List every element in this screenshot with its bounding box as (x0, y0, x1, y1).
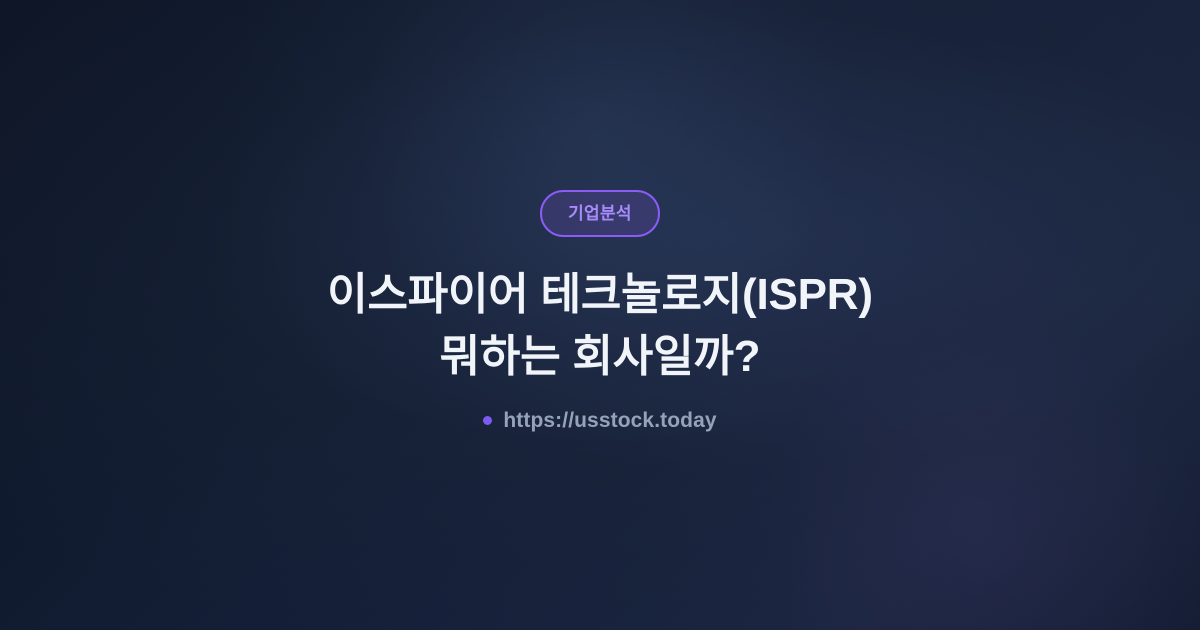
page-title: 이스파이어 테크놀로지(ISPR) 뭐하는 회사일까? (327, 264, 873, 388)
social-share-card: 기업분석 이스파이어 테크놀로지(ISPR) 뭐하는 회사일까? https:/… (0, 0, 1200, 630)
page-title-line-2: 뭐하는 회사일까? (327, 326, 873, 388)
bullet-dot-icon (483, 416, 492, 425)
page-title-line-1: 이스파이어 테크놀로지(ISPR) (327, 264, 873, 326)
category-badge: 기업분석 (540, 190, 660, 237)
site-url-label: https://usstock.today (503, 410, 716, 431)
site-url-row: https://usstock.today (483, 410, 716, 431)
card-content: 기업분석 이스파이어 테크놀로지(ISPR) 뭐하는 회사일까? https:/… (0, 0, 1200, 630)
